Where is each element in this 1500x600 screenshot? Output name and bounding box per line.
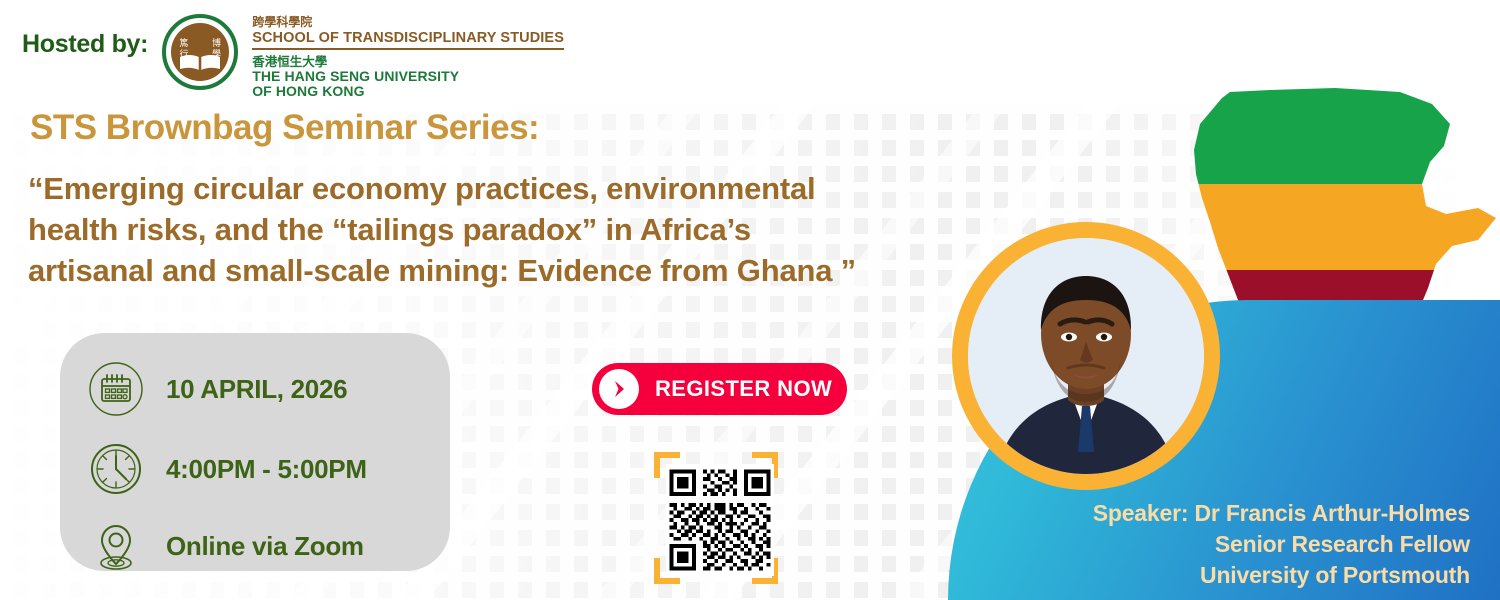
detail-row-time: 4:00PM - 5:00PM xyxy=(88,441,367,497)
university-text-block: 跨學科學院 SCHOOL OF TRANSDISCIPLINARY STUDIE… xyxy=(252,16,564,100)
seminar-banner: Speaker: Dr Francis Arthur-Holmes Senior… xyxy=(0,0,1500,600)
logo-characters: 篤 博 行 學 xyxy=(176,39,224,60)
logo-char-spacer2 xyxy=(193,50,208,60)
logo-char-2: 博 xyxy=(209,39,224,49)
logo-char-4: 學 xyxy=(209,50,224,60)
school-name-chinese: 跨學科學院 xyxy=(252,16,564,29)
qr-code-block[interactable] xyxy=(650,450,790,598)
event-details-card: 10 APRIL, 2026 4:00PM - 5:00PM xyxy=(60,333,450,571)
hosted-by-label: Hosted by: xyxy=(22,30,148,59)
register-now-label: REGISTER NOW xyxy=(655,376,832,402)
event-time: 4:00PM - 5:00PM xyxy=(166,454,367,485)
event-location: Online via Zoom xyxy=(166,531,364,562)
clock-icon xyxy=(88,441,144,497)
map-pin-icon xyxy=(88,518,144,574)
university-name-line1: THE HANG SENG UNIVERSITY xyxy=(252,69,564,85)
talk-title-line-2: health risks, and the “tailings paradox”… xyxy=(28,209,958,250)
chevron-right-icon xyxy=(599,369,639,409)
detail-row-location: Online via Zoom xyxy=(88,518,364,574)
detail-row-date: 10 APRIL, 2026 xyxy=(88,361,347,417)
logo-disc: 篤 博 行 學 xyxy=(171,23,229,81)
event-date: 10 APRIL, 2026 xyxy=(166,374,347,405)
speaker-name: Speaker: Dr Francis Arthur-Holmes xyxy=(1000,498,1470,529)
talk-title-line-3: artisanal and small-scale mining: Eviden… xyxy=(28,250,958,291)
talk-title-line-1: “Emerging circular economy practices, en… xyxy=(28,168,958,209)
speaker-info: Speaker: Dr Francis Arthur-Holmes Senior… xyxy=(1000,498,1470,591)
speaker-title: Senior Research Fellow xyxy=(1000,529,1470,560)
talk-title: “Emerging circular economy practices, en… xyxy=(28,168,958,291)
calendar-icon xyxy=(88,361,144,417)
speaker-affiliation: University of Portsmouth xyxy=(1000,560,1470,591)
series-title: STS Brownbag Seminar Series: xyxy=(30,108,539,148)
header-host-block: Hosted by: 篤 博 行 學 跨學科學院 S xyxy=(22,12,564,100)
speaker-portrait xyxy=(968,238,1204,474)
qr-code[interactable] xyxy=(666,464,774,576)
hsu-crest-logo: 篤 博 行 學 xyxy=(162,14,238,90)
logo-char-spacer xyxy=(193,39,208,49)
school-name-english: SCHOOL OF TRANSDISCIPLINARY STUDIES xyxy=(252,30,564,49)
university-name-chinese: 香港恒生大學 xyxy=(252,55,564,69)
university-name-line2: OF HONG KONG xyxy=(252,84,564,100)
register-now-button[interactable]: REGISTER NOW xyxy=(592,363,847,415)
speaker-photo-ring xyxy=(952,222,1220,490)
logo-char-3: 行 xyxy=(176,50,191,60)
logo-char-1: 篤 xyxy=(176,39,191,49)
